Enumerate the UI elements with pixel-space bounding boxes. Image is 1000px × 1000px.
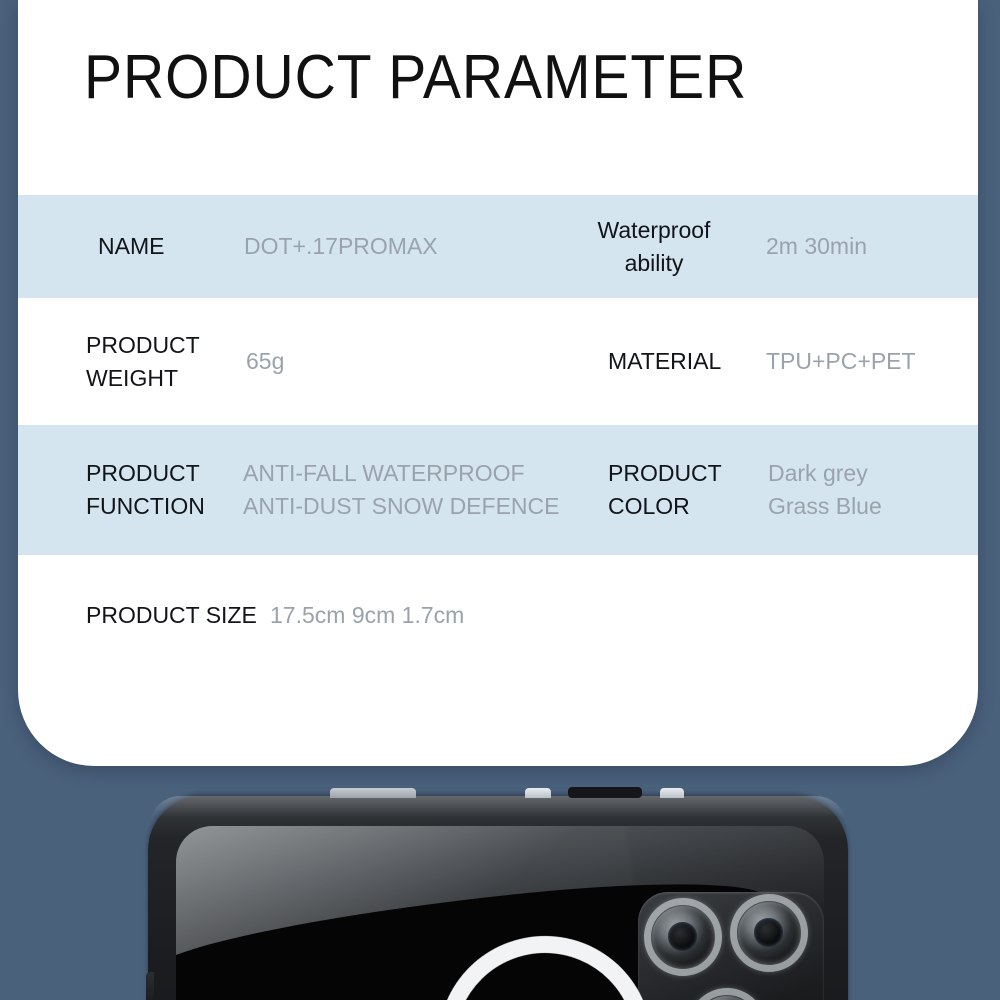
spec-row: PRODUCT WEIGHT 65g MATERIAL TPU+PC+PET	[18, 298, 978, 425]
case-side-button	[146, 972, 154, 1000]
spec-label-product-color: PRODUCT COLOR	[608, 457, 722, 523]
spec-label-product-size: PRODUCT SIZE	[86, 599, 257, 632]
spec-value-waterproof: 2m 30min	[766, 230, 867, 263]
product-photo	[0, 740, 1000, 1000]
case-button-nub-power	[525, 788, 551, 798]
spec-value-material: TPU+PC+PET	[766, 345, 916, 378]
camera-island	[638, 892, 824, 1000]
spec-row: PRODUCT FUNCTION ANTI-FALL WATERPROOF AN…	[18, 425, 978, 555]
camera-lens-ultrawide	[738, 902, 800, 964]
spec-value-product-function: ANTI-FALL WATERPROOF ANTI-DUST SNOW DEFE…	[243, 457, 559, 523]
spec-label-product-function: PRODUCT FUNCTION	[86, 457, 205, 523]
spec-label-material: MATERIAL	[608, 345, 721, 378]
case-button-nub-action	[660, 788, 684, 798]
spec-label-product-weight: PRODUCT WEIGHT	[86, 329, 200, 395]
spec-row: PRODUCT SIZE 17.5cm 9cm 1.7cm	[18, 555, 978, 675]
camera-lens-wide	[652, 906, 714, 968]
spec-value-product-size: 17.5cm 9cm 1.7cm	[270, 599, 464, 632]
spec-label-waterproof: Waterproof ability	[584, 214, 724, 280]
spec-label-name: NAME	[98, 230, 164, 263]
phone-back-panel	[176, 826, 824, 1000]
page-title: PRODUCT PARAMETER	[84, 42, 747, 113]
case-top-slot	[568, 787, 642, 798]
case-button-nub-volume	[330, 788, 416, 798]
spec-value-product-color: Dark grey Grass Blue	[768, 457, 882, 523]
lens-glint-icon	[762, 924, 771, 933]
spec-value-product-weight: 65g	[246, 345, 284, 378]
lens-glint-icon	[676, 928, 685, 937]
product-parameter-card: PRODUCT PARAMETER NAME DOT+.17PROMAX Wat…	[18, 0, 978, 766]
page-root: PRODUCT PARAMETER NAME DOT+.17PROMAX Wat…	[0, 0, 1000, 1000]
spec-value-name: DOT+.17PROMAX	[244, 230, 438, 263]
spec-row: NAME DOT+.17PROMAX Waterproof ability 2m…	[18, 195, 978, 298]
